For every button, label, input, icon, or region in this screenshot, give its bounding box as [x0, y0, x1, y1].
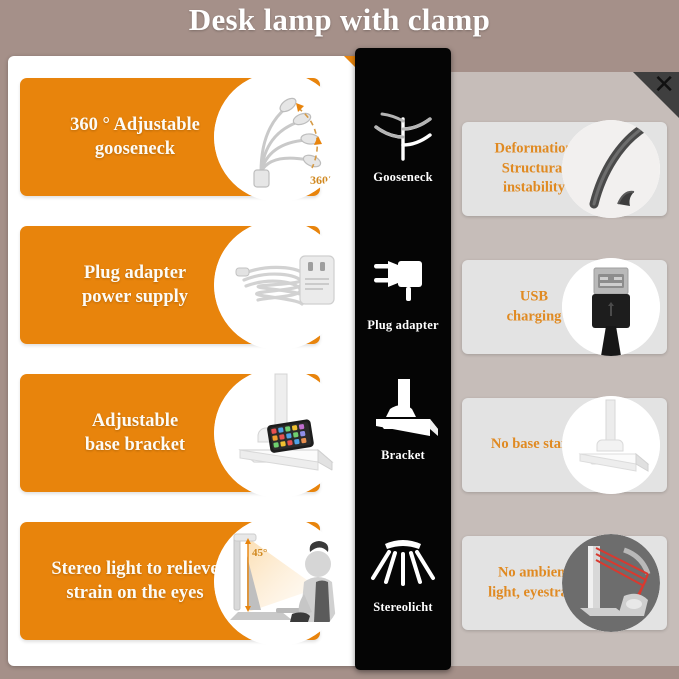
base-bracket-photo	[214, 368, 344, 498]
base-bracket-illustration	[214, 368, 344, 498]
desk-lighting-angle-photo: 45°	[214, 516, 344, 646]
center-item-label: Bracket	[355, 448, 451, 463]
plug-adapter-icon	[355, 248, 451, 312]
center-item-label: Gooseneck	[355, 170, 451, 185]
stereo-light-icon-svg	[367, 534, 439, 590]
desk-lighting-illustration: 45°	[214, 516, 344, 646]
bracket-icon	[355, 378, 451, 442]
center-item-bracket[interactable]: Bracket	[355, 378, 451, 463]
center-item-stereolicht[interactable]: Stereolicht	[355, 530, 451, 615]
gooseneck-icon-svg	[366, 101, 440, 163]
adapter-body	[300, 256, 334, 304]
pros-panel: ✔ 360 ° Adjustable gooseneck	[8, 56, 406, 666]
bent-tube-illustration	[562, 120, 660, 218]
pro-card-label: 360 ° Adjustable gooseneck	[26, 113, 244, 161]
bent-tube-photo	[562, 120, 660, 218]
page-title: Desk lamp with clamp	[0, 2, 679, 38]
cons-panel: ✕ Deformation Structural instability USB…	[434, 72, 679, 666]
eyestrain-photo	[562, 534, 660, 632]
clamp-base-illustration	[562, 396, 660, 494]
angle-annotation: 45°	[252, 547, 267, 559]
gooseneck-photo: 360'	[214, 72, 344, 202]
usb-connector-illustration	[562, 258, 660, 356]
gooseneck-illustration: 360'	[214, 72, 344, 202]
pro-card-label-line2: base bracket	[26, 433, 244, 457]
power-adapter-photo	[214, 220, 344, 350]
center-item-gooseneck[interactable]: Gooseneck	[355, 100, 451, 185]
center-item-label: Plug adapter	[355, 318, 451, 333]
usb-connector-photo	[562, 258, 660, 356]
clamp-base-photo	[562, 396, 660, 494]
pro-card-label: Plug adapter power supply	[26, 261, 244, 309]
pro-card-label-line1: Stereo light to relieve	[26, 557, 244, 581]
pro-card-label-line1: Adjustable	[26, 409, 244, 433]
pro-card-label-line2: strain on the eyes	[26, 581, 244, 605]
pro-card-label-line1: 360 ° Adjustable	[26, 113, 244, 137]
center-item-label: Stereolicht	[355, 600, 451, 615]
power-adapter-illustration	[214, 220, 344, 350]
pro-card-label-line1: Plug adapter	[26, 261, 244, 285]
center-item-plug-adapter[interactable]: Plug adapter	[355, 248, 451, 333]
feature-column: Gooseneck Plug adapter Bracket	[355, 48, 451, 670]
pro-card-label-line2: power supply	[26, 285, 244, 309]
eyestrain-illustration	[562, 534, 660, 632]
stereo-light-icon	[355, 530, 451, 594]
gooseneck-annotation: 360'	[310, 173, 331, 187]
bracket-icon-svg	[366, 379, 440, 441]
pro-card-label: Stereo light to relieve strain on the ey…	[26, 557, 244, 605]
pro-card-label-line2: gooseneck	[26, 137, 244, 161]
close-icon: ✕	[653, 72, 675, 98]
plug-adapter-icon-svg	[372, 251, 434, 309]
pro-card-label: Adjustable base bracket	[26, 409, 244, 457]
gooseneck-icon	[355, 100, 451, 164]
